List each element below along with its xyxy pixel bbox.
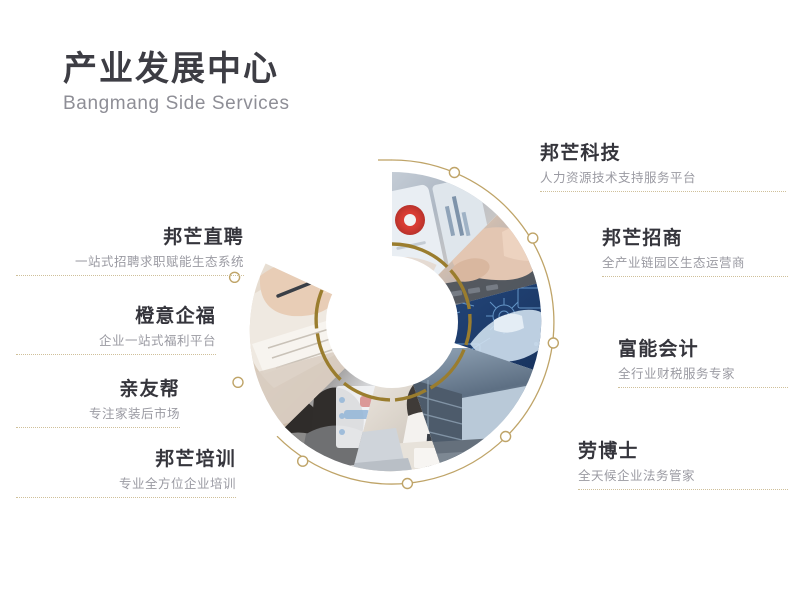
service-name: 邦芒科技 bbox=[540, 142, 786, 166]
connector-node-5 bbox=[402, 479, 412, 489]
service-name: 亲友帮 bbox=[16, 378, 180, 402]
service-divider bbox=[578, 489, 788, 490]
service-divider bbox=[602, 276, 788, 277]
service-divider bbox=[16, 427, 180, 428]
service-desc: 一站式招聘求职赋能生态系统 bbox=[16, 254, 244, 270]
service-desc: 企业一站式福利平台 bbox=[16, 333, 216, 349]
service-name: 邦芒招商 bbox=[602, 227, 788, 251]
connector-node-1 bbox=[449, 168, 459, 178]
service-name: 橙意企福 bbox=[16, 305, 216, 329]
service-item-right-0[interactable]: 邦芒科技 人力资源技术支持服务平台 bbox=[540, 142, 786, 192]
service-item-right-3[interactable]: 劳博士 全天候企业法务管家 bbox=[578, 440, 788, 490]
services-wheel bbox=[218, 148, 566, 496]
service-divider bbox=[16, 497, 236, 498]
service-item-left-2[interactable]: 亲友帮 专注家装后市场 bbox=[16, 378, 180, 428]
page-title: 产业发展中心 bbox=[63, 50, 483, 89]
service-divider bbox=[16, 275, 244, 276]
service-item-left-1[interactable]: 橙意企福 企业一站式福利平台 bbox=[16, 305, 216, 355]
connector-node-3 bbox=[548, 338, 558, 348]
connector-node-2 bbox=[528, 233, 538, 243]
connector-node-6 bbox=[298, 456, 308, 466]
connector-node-4 bbox=[501, 432, 511, 442]
service-desc: 人力资源技术支持服务平台 bbox=[540, 170, 786, 186]
service-desc: 全行业财税服务专家 bbox=[618, 366, 788, 382]
service-divider bbox=[540, 191, 786, 192]
service-desc: 专注家装后市场 bbox=[16, 406, 180, 422]
service-desc: 全产业链园区生态运营商 bbox=[602, 255, 788, 271]
service-item-left-3[interactable]: 邦芒培训 专业全方位企业培训 bbox=[16, 448, 236, 498]
page-header: 产业发展中心 Bangmang Side Services bbox=[63, 50, 483, 115]
service-name: 邦芒培训 bbox=[16, 448, 236, 472]
service-item-right-1[interactable]: 邦芒招商 全产业链园区生态运营商 bbox=[602, 227, 788, 277]
page-subtitle: Bangmang Side Services bbox=[63, 93, 483, 115]
service-item-left-0[interactable]: 邦芒直聘 一站式招聘求职赋能生态系统 bbox=[16, 226, 244, 276]
service-divider bbox=[618, 387, 788, 388]
service-divider bbox=[16, 354, 216, 355]
service-name: 劳博士 bbox=[578, 440, 788, 464]
service-name: 富能会计 bbox=[618, 338, 788, 362]
service-name: 邦芒直聘 bbox=[16, 226, 244, 250]
service-item-right-2[interactable]: 富能会计 全行业财税服务专家 bbox=[618, 338, 788, 388]
service-desc: 专业全方位企业培训 bbox=[16, 476, 236, 492]
connector-node-7 bbox=[233, 377, 243, 387]
service-desc: 全天候企业法务管家 bbox=[578, 468, 788, 484]
